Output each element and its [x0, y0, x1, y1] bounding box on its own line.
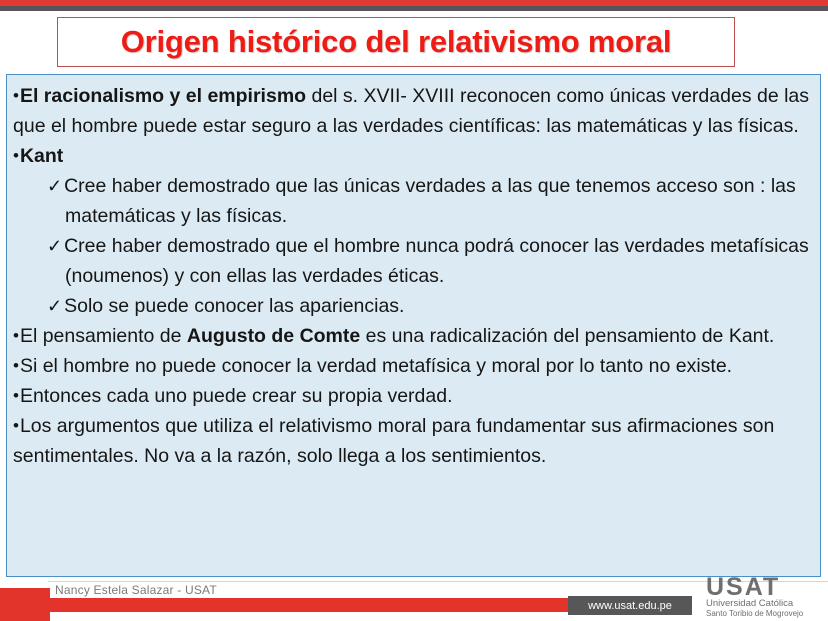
usat-logo-line1: Universidad Católica [706, 598, 824, 609]
text-comte-pre: El pensamiento de [20, 325, 187, 347]
bullet-icon: • [13, 326, 19, 345]
check-item-1-text: Cree haber demostrado que las únicas ver… [64, 175, 796, 227]
bullet-icon: • [13, 416, 19, 435]
bullet-icon: • [13, 86, 19, 105]
footer-red-block [0, 588, 50, 621]
check-item-3: ✓Solo se puede conocer las apariencias. [13, 291, 812, 321]
text-propia-verdad: Entonces cada uno puede crear su propia … [20, 385, 453, 407]
page-title: Origen histórico del relativismo moral [121, 24, 672, 60]
footer-url-tab[interactable]: www.usat.edu.pe [568, 596, 692, 615]
text-argumentos: Los argumentos que utiliza el relativism… [13, 415, 774, 467]
footer-author-label: Nancy Estela Salazar - USAT [55, 583, 217, 597]
bullet-paragraph-racionalismo: •El racionalismo y el empirismo del s. X… [13, 81, 812, 141]
check-item-1: ✓Cree haber demostrado que las únicas ve… [13, 171, 812, 231]
bullet-icon: • [13, 146, 19, 165]
bullet-icon: • [13, 356, 19, 375]
bullet-paragraph-kant: •Kant [13, 141, 812, 171]
bullet-paragraph-comte: •El pensamiento de Augusto de Comte es u… [13, 321, 812, 351]
slide-content-box: •El racionalismo y el empirismo del s. X… [6, 74, 821, 577]
bullet-paragraph-metafisica: •Si el hombre no puede conocer la verdad… [13, 351, 812, 381]
footer-red-bar [50, 598, 628, 612]
bold-lead-kant: Kant [20, 145, 63, 167]
check-item-2: ✓Cree haber demostrado que el hombre nun… [13, 231, 812, 291]
checkmark-icon: ✓ [47, 296, 62, 316]
usat-logo-line2: Santo Toribio de Mogrovejo [706, 609, 824, 619]
checkmark-icon: ✓ [47, 176, 62, 196]
bullet-paragraph-argumentos: •Los argumentos que utiliza el relativis… [13, 411, 812, 471]
text-comte-post: es una radicalización del pensamiento de… [360, 325, 774, 347]
bullet-icon: • [13, 386, 19, 405]
top-accent-bar-gray [0, 6, 828, 11]
slide-title-box: Origen histórico del relativismo moral [57, 17, 735, 67]
bold-augusto-de-comte: Augusto de Comte [187, 325, 360, 347]
check-item-2-text: Cree haber demostrado que el hombre nunc… [64, 235, 809, 287]
bullet-paragraph-propia-verdad: •Entonces cada uno puede crear su propia… [13, 381, 812, 411]
usat-logo: USAT Universidad Católica Santo Toribio … [706, 576, 824, 619]
bold-lead-racionalismo: El racionalismo y el empirismo [20, 85, 306, 107]
usat-logo-wordmark: USAT [706, 576, 824, 598]
check-item-3-text: Solo se puede conocer las apariencias. [64, 295, 404, 317]
text-metafisica: Si el hombre no puede conocer la verdad … [20, 355, 732, 377]
footer-url-label: www.usat.edu.pe [588, 600, 672, 612]
checkmark-icon: ✓ [47, 236, 62, 256]
